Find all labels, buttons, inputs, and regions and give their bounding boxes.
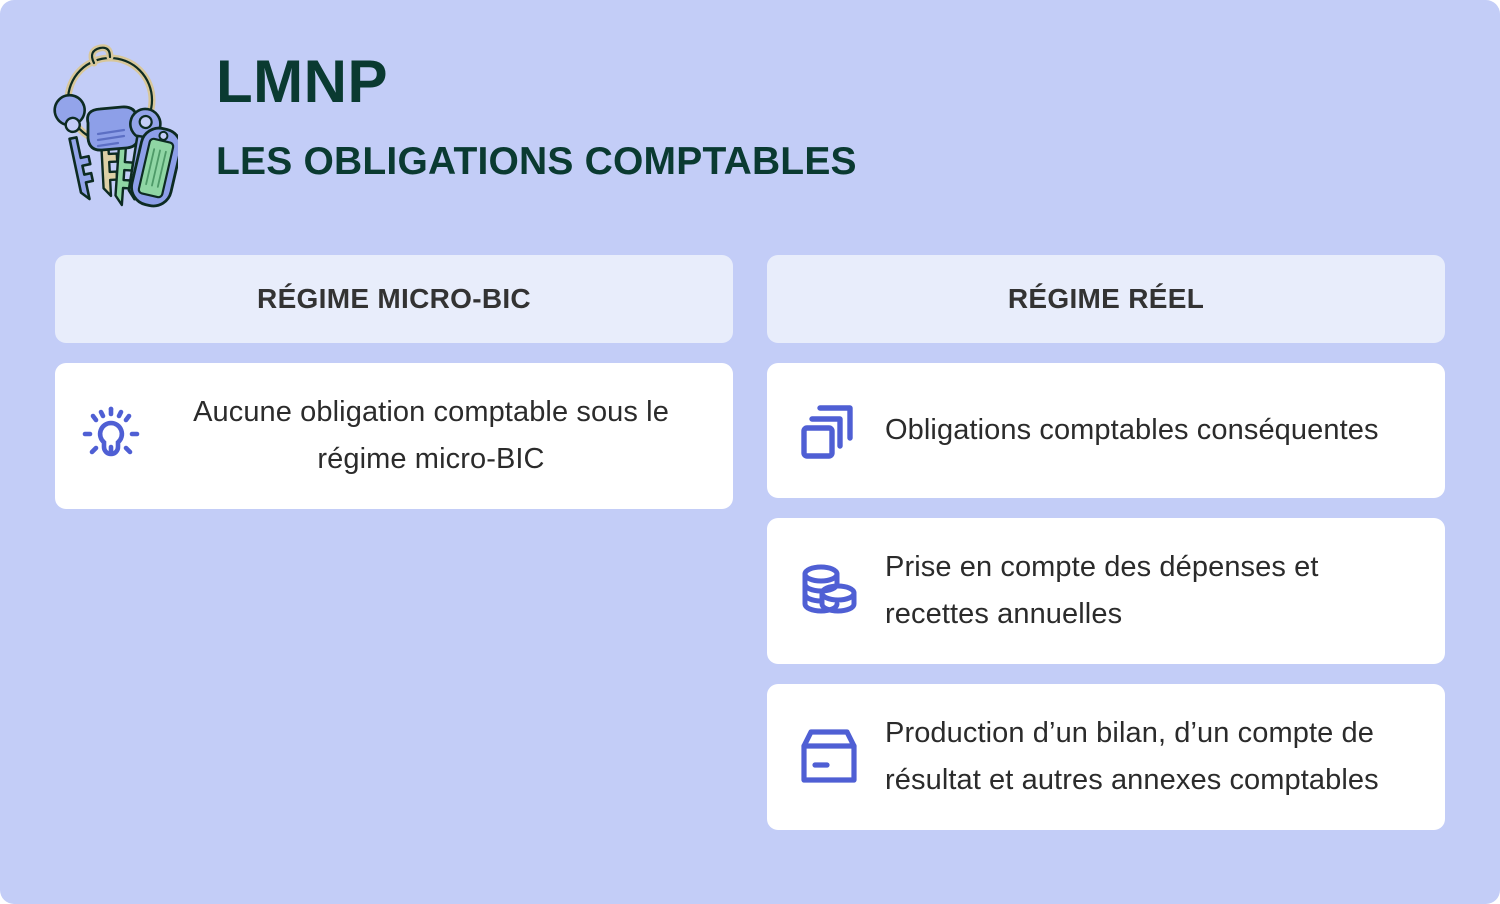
card-text: Production d’un bilan, d’un compte de ré… [885,710,1415,804]
card-micro-bic-1: Aucune obligation comptable sous le régi… [55,363,733,509]
card-regime-reel-3: Production d’un bilan, d’un compte de ré… [767,684,1445,830]
column-header-label: RÉGIME MICRO-BIC [257,283,531,315]
page-subtitle: LES OBLIGATIONS COMPTABLES [216,142,857,181]
column-header-regime-reel: RÉGIME RÉEL [767,255,1445,343]
page-title: LMNP [216,52,857,112]
card-text: Aucune obligation comptable sous le régi… [159,389,703,483]
card-regime-reel-1: Obligations comptables conséquentes [767,363,1445,498]
archive-box-icon [793,721,865,793]
comparison-columns: RÉGIME MICRO-BIC [55,255,1445,830]
column-micro-bic: RÉGIME MICRO-BIC [55,255,733,830]
lightbulb-icon [75,400,147,472]
card-text: Obligations comptables conséquentes [885,407,1379,454]
header-text-block: LMNP LES OBLIGATIONS COMPTABLES [216,52,857,181]
column-header-micro-bic: RÉGIME MICRO-BIC [55,255,733,343]
column-regime-reel: RÉGIME RÉEL Obligations comptables consé… [767,255,1445,830]
header: LMNP LES OBLIGATIONS COMPTABLES [0,0,1500,248]
column-header-label: RÉGIME RÉEL [1008,283,1204,315]
coins-stack-icon [793,555,865,627]
keys-bunch-icon [48,38,178,223]
card-text: Prise en compte des dépenses et recettes… [885,544,1415,638]
card-regime-reel-2: Prise en compte des dépenses et recettes… [767,518,1445,664]
infographic-canvas: LMNP LES OBLIGATIONS COMPTABLES RÉGIME M… [0,0,1500,904]
copy-stack-icon [793,395,865,467]
